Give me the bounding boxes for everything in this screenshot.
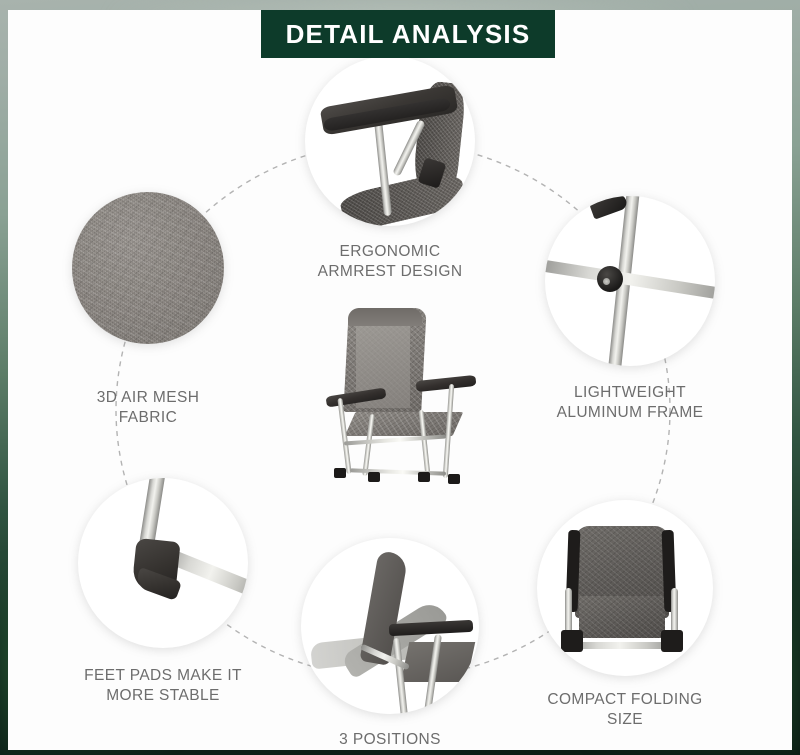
- chair-foot-front-right: [448, 474, 460, 484]
- frame-pivot-rivet: [603, 278, 610, 285]
- chair-foot-front-left: [334, 468, 346, 478]
- callout-label-mesh-fabric: 3D AIR MESH FABRIC: [43, 388, 253, 428]
- aluminum-cross-joint-icon: [545, 196, 715, 366]
- frame-pivot-knob: [597, 266, 623, 292]
- callout-label-folding-size: COMPACT FOLDING SIZE: [505, 690, 745, 730]
- callout-label-aluminum-frame: LIGHTWEIGHT ALUMINUM FRAME: [515, 383, 745, 423]
- foot-pad-closeup-icon: [78, 478, 248, 648]
- armrest-closeup-icon: [305, 56, 475, 226]
- three-backrest-positions-icon: [301, 538, 479, 714]
- callout-folding-size: COMPACT FOLDING SIZE: [537, 500, 713, 676]
- chair-armrest-right: [416, 375, 477, 392]
- chair-foot-rear-right: [418, 472, 430, 482]
- armrest-mesh-seat: [338, 169, 467, 226]
- callout-feet-pads: FEET PADS MAKE IT MORE STABLE: [78, 478, 248, 648]
- folded-foot-left: [561, 630, 583, 652]
- folded-seat-panel: [579, 596, 665, 638]
- callout-mesh-fabric: 3D AIR MESH FABRIC: [72, 192, 224, 344]
- mesh-fabric-swatch-icon: [72, 192, 224, 344]
- main-product-image: [320, 306, 490, 496]
- product-detail-card: 3D AIR MESH FABRIC ERGONOMIC ARMREST DES…: [8, 10, 792, 750]
- folded-chair-icon: [537, 500, 713, 676]
- title-banner: DETAIL ANALYSIS: [261, 10, 555, 58]
- infographic-page: 3D AIR MESH FABRIC ERGONOMIC ARMREST DES…: [0, 0, 800, 755]
- chair-cross-brace: [344, 434, 446, 445]
- chair-foot-rear-left: [368, 472, 380, 482]
- page-title: DETAIL ANALYSIS: [286, 19, 531, 50]
- callout-aluminum-frame: LIGHTWEIGHT ALUMINUM FRAME: [545, 196, 715, 366]
- callout-label-positions: 3 POSITIONS ADJUSTABLE: [275, 730, 505, 750]
- chair-headrest: [348, 308, 422, 326]
- callout-label-armrest: ERGONOMIC ARMREST DESIGN: [275, 242, 505, 282]
- callout-positions: 3 POSITIONS ADJUSTABLE: [301, 538, 479, 714]
- frame-end-cap: [589, 196, 628, 220]
- callout-label-feet-pads: FEET PADS MAKE IT MORE STABLE: [38, 666, 288, 706]
- folded-foot-right: [661, 630, 683, 652]
- callout-armrest: ERGONOMIC ARMREST DESIGN: [305, 56, 475, 226]
